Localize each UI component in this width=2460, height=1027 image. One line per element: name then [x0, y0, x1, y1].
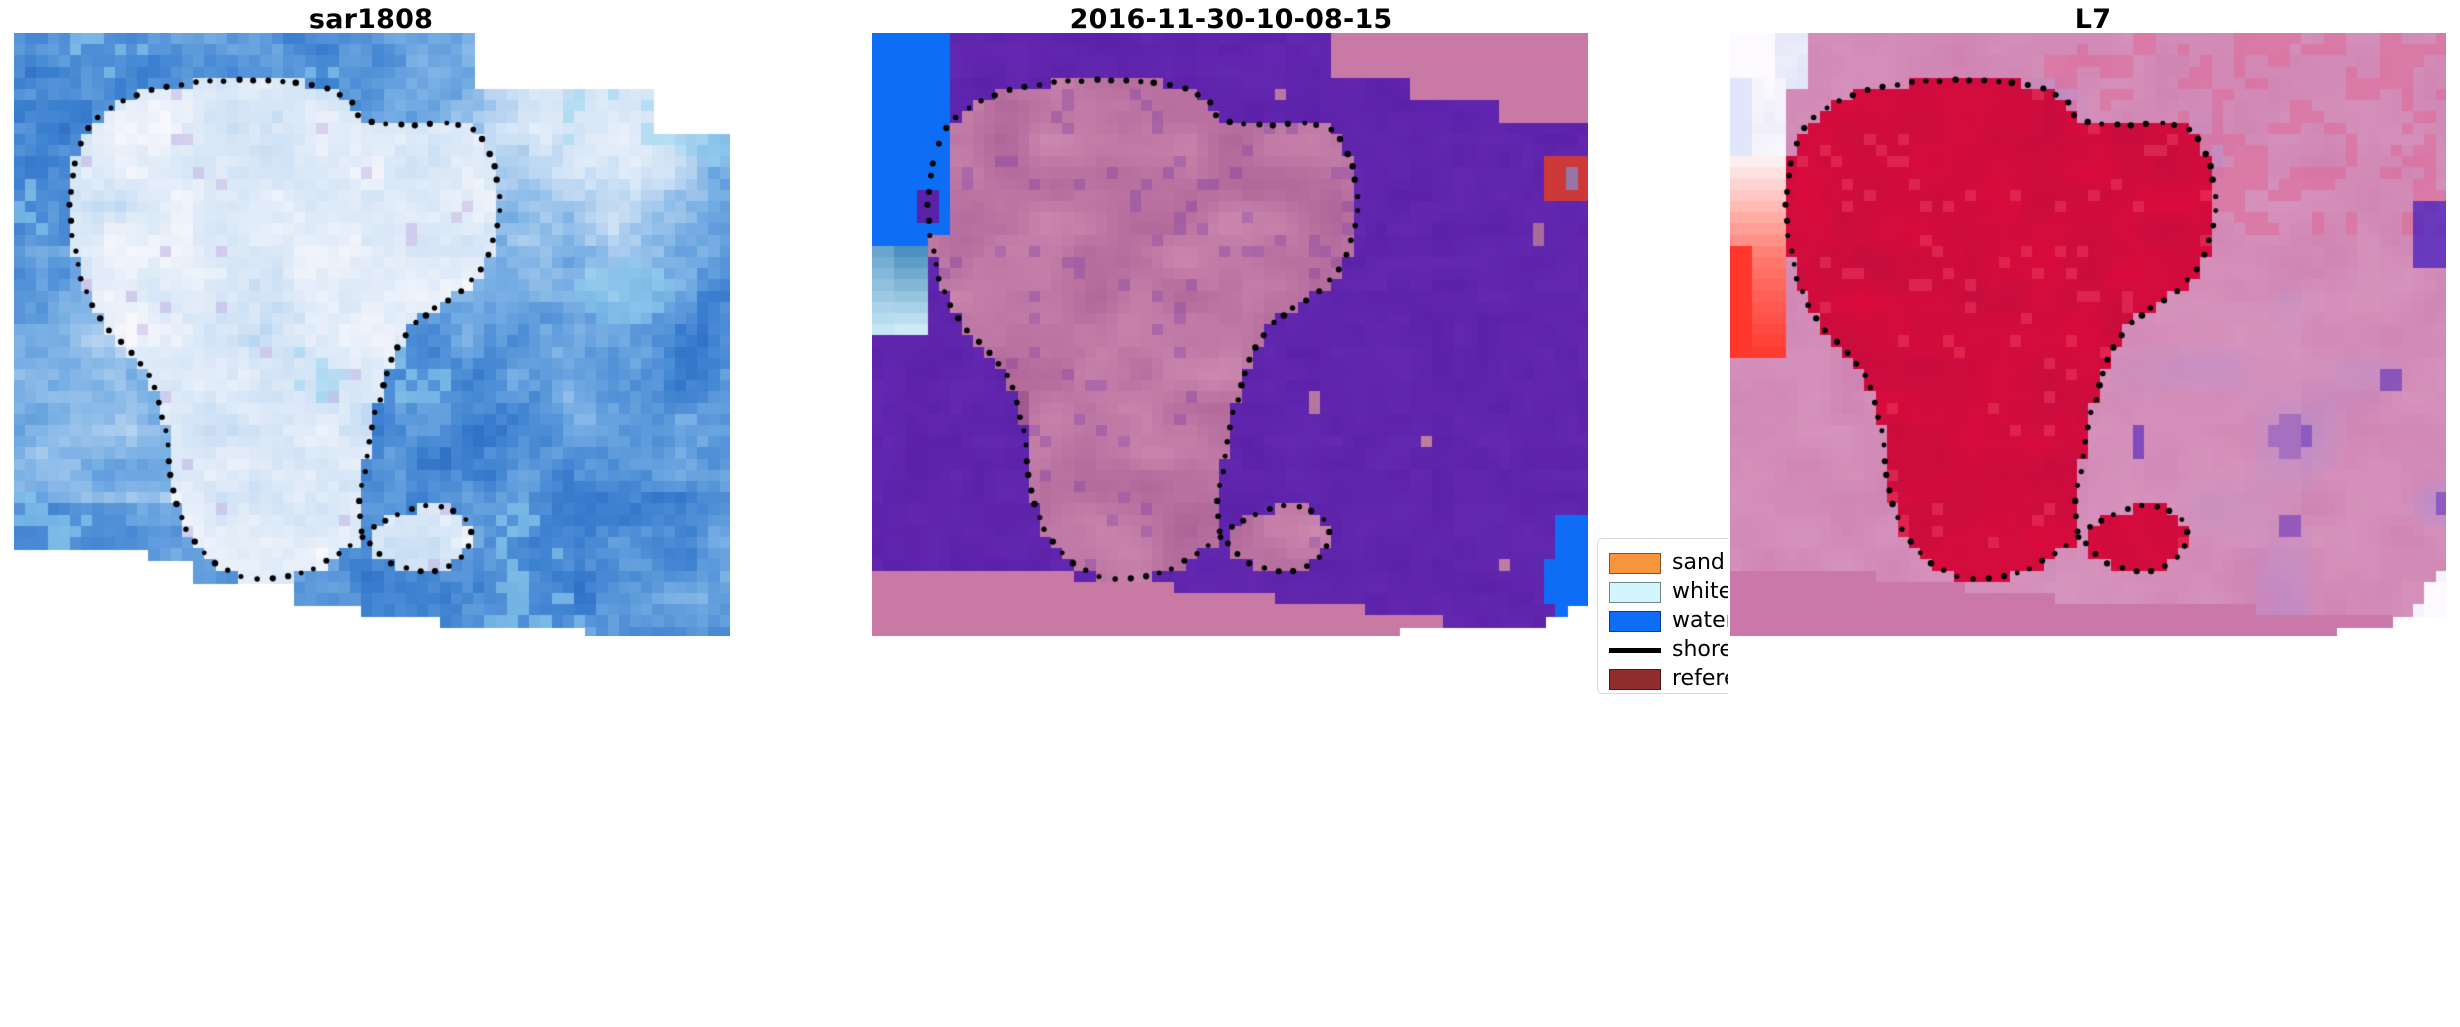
- panel-title-sar: sar1808: [0, 4, 771, 35]
- legend-swatch-wrap: [1598, 611, 1672, 632]
- panel-title-l7: L7: [1693, 4, 2460, 35]
- legend-label: water: [1672, 610, 1728, 632]
- legend-swatch-shoreline-icon: [1609, 648, 1661, 653]
- legend-item-water: water: [1598, 606, 1728, 636]
- legend-item-whitewater: whitewater: [1598, 577, 1728, 607]
- legend-swatch-sand-icon: [1609, 553, 1661, 574]
- map-legend: sandwhitewaterwatershorelinereference sh…: [1597, 538, 1728, 694]
- legend-swatch-wrap: [1598, 669, 1672, 690]
- legend-label: whitewater: [1672, 581, 1728, 603]
- legend-clip-region: sandwhitewaterwatershorelinereference sh…: [1597, 538, 1728, 696]
- panel-title-classified: 2016-11-30-10-08-15: [831, 4, 1631, 35]
- image-panel-l7[interactable]: [1730, 33, 2446, 636]
- legend-label: shoreline: [1672, 639, 1728, 661]
- legend-swatch-whitewater-icon: [1609, 582, 1661, 603]
- legend-swatch-water-icon: [1609, 611, 1661, 632]
- legend-item-shoreline: shoreline: [1598, 635, 1728, 665]
- legend-label: reference shoreline: [1672, 668, 1728, 690]
- l7-raster-image: [1730, 33, 2446, 636]
- legend-item-reference: reference shoreline: [1598, 664, 1728, 694]
- image-panel-sar[interactable]: [14, 33, 730, 636]
- legend-label: sand: [1672, 552, 1725, 574]
- legend-swatch-wrap: [1598, 582, 1672, 603]
- legend-swatch-wrap: [1598, 553, 1672, 574]
- image-panel-classified[interactable]: [872, 33, 1588, 636]
- sar-raster-image: [14, 33, 730, 636]
- legend-item-sand: sand: [1598, 548, 1728, 578]
- classified-raster-image: [872, 33, 1588, 636]
- figure-root: sar1808 2016-11-30-10-08-15 L7 sandwhite…: [0, 0, 2460, 1027]
- legend-swatch-wrap: [1598, 648, 1672, 653]
- legend-swatch-reference-icon: [1609, 669, 1661, 690]
